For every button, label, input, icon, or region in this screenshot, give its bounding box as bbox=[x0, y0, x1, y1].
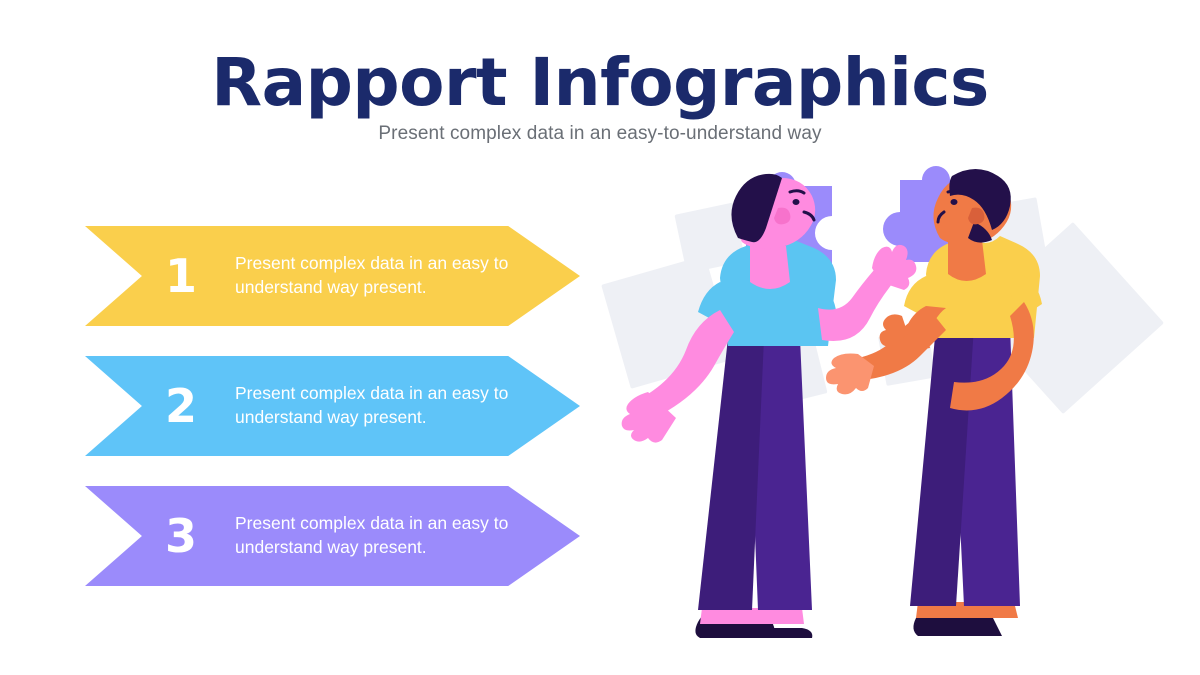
banner-list: 1 Present complex data in an easy to und… bbox=[85, 226, 580, 616]
left-person-ankles bbox=[700, 608, 804, 624]
banner-number-1: 1 bbox=[153, 253, 209, 299]
person-left bbox=[622, 174, 917, 638]
banner-number-3: 3 bbox=[153, 513, 209, 559]
infographic-slide: Rapport Infographics Present complex dat… bbox=[0, 0, 1200, 675]
illustration-two-people bbox=[600, 150, 1200, 660]
left-person-neck bbox=[750, 246, 790, 289]
banner-item-2[interactable]: 2 Present complex data in an easy to und… bbox=[85, 356, 580, 456]
left-person-pants bbox=[698, 338, 812, 610]
banner-number-2: 2 bbox=[153, 383, 209, 429]
right-person-neck bbox=[948, 240, 986, 281]
page-title: Rapport Infographics bbox=[0, 48, 1200, 117]
banner-text-2: Present complex data in an easy to under… bbox=[235, 382, 535, 429]
page-subtitle: Present complex data in an easy-to-under… bbox=[0, 123, 1200, 145]
banner-text-1: Present complex data in an easy to under… bbox=[235, 252, 535, 299]
slide-header: Rapport Infographics Present complex dat… bbox=[0, 48, 1200, 145]
banner-item-1[interactable]: 1 Present complex data in an easy to und… bbox=[85, 226, 580, 326]
banner-text-3: Present complex data in an easy to under… bbox=[235, 512, 535, 559]
banner-item-3[interactable]: 3 Present complex data in an easy to und… bbox=[85, 486, 580, 586]
